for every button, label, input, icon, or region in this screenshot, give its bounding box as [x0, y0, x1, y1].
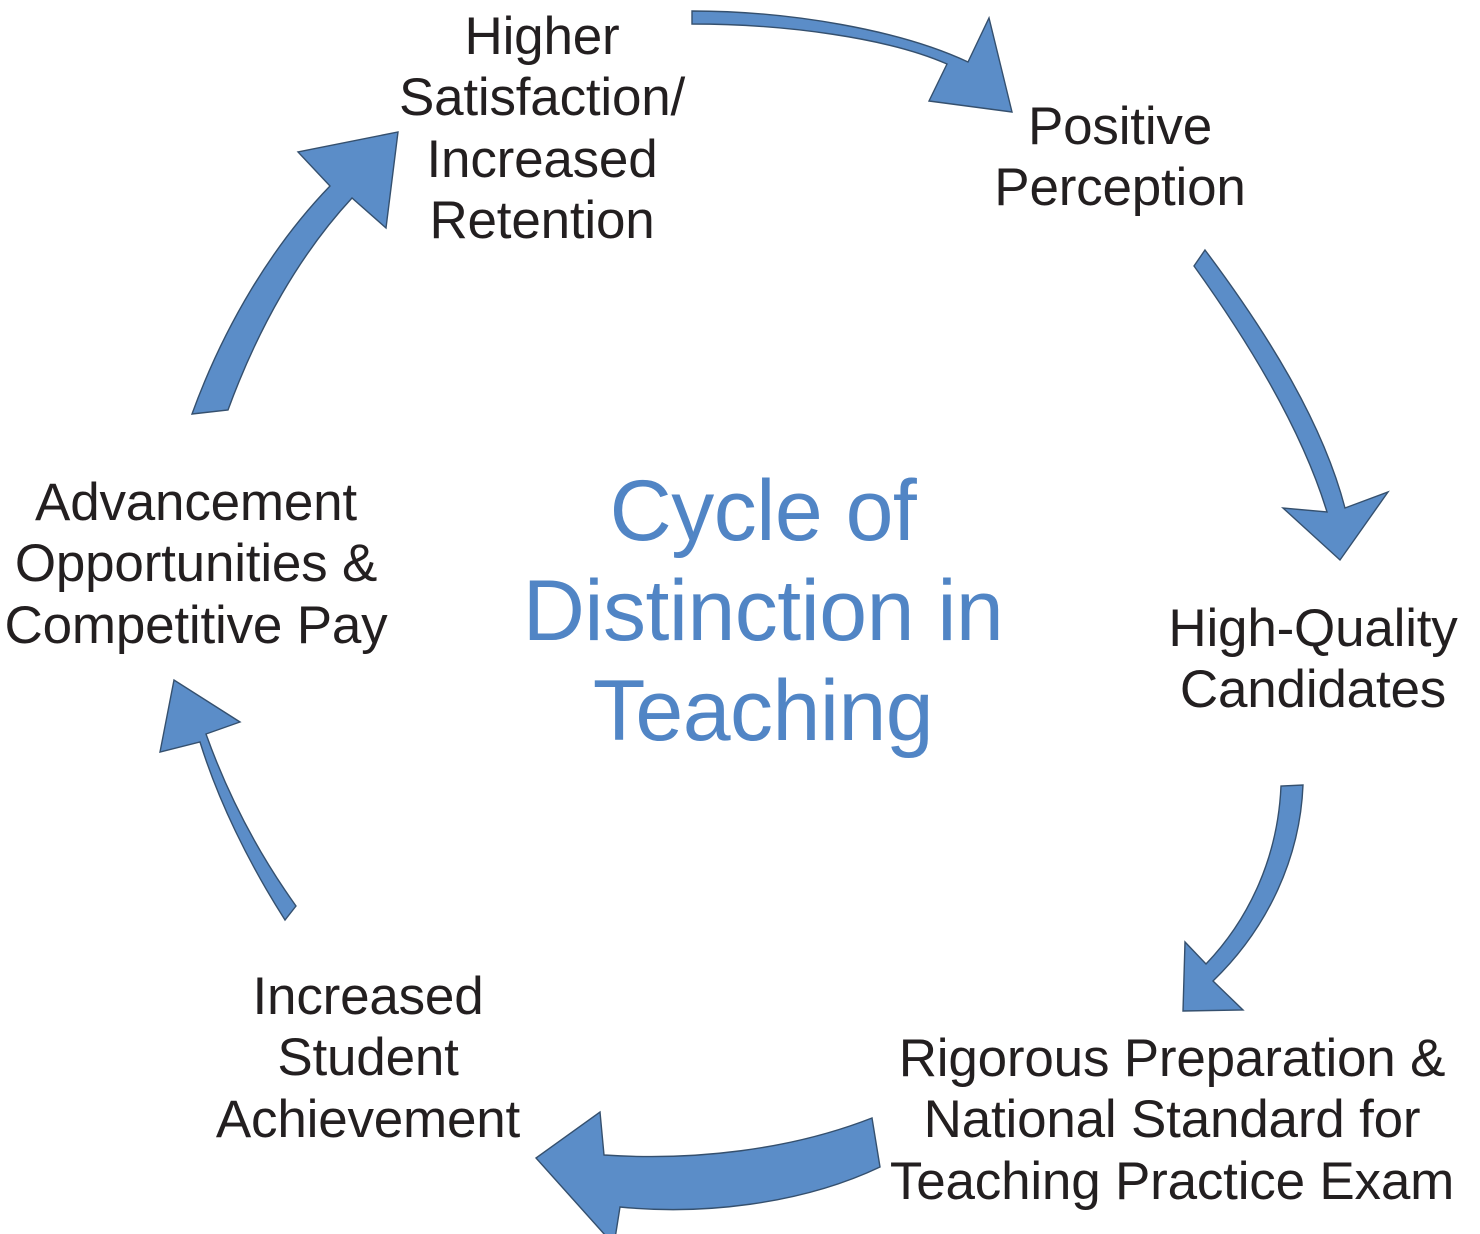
cycle-node-higher-satisfaction-increased-retention: Higher Satisfaction/ Increased Retention — [372, 6, 712, 252]
cycle-node-increased-student-achievement: Increased Student Achievement — [192, 966, 544, 1150]
arrow-up-left-icon — [160, 680, 296, 920]
cycle-node-rigorous-preparation-national-standard: Rigorous Preparation & National Standard… — [872, 1028, 1472, 1212]
arrow-right-down-icon — [1194, 250, 1388, 560]
cycle-diagram: Higher Satisfaction/ Increased Retention… — [0, 0, 1480, 1234]
cycle-node-high-quality-candidates: High-Quality Candidates — [1148, 598, 1478, 721]
arrow-up-right-icon — [192, 132, 398, 414]
diagram-center-title: Cycle of Distinction in Teaching — [438, 462, 1088, 761]
arrow-bottom-left-icon — [536, 1112, 880, 1234]
cycle-node-advancement-opportunities-competitive-pay: Advancement Opportunities & Competitive … — [0, 472, 392, 656]
arrow-down-left-icon — [1183, 785, 1303, 1011]
cycle-node-positive-perception: Positive Perception — [960, 96, 1280, 219]
